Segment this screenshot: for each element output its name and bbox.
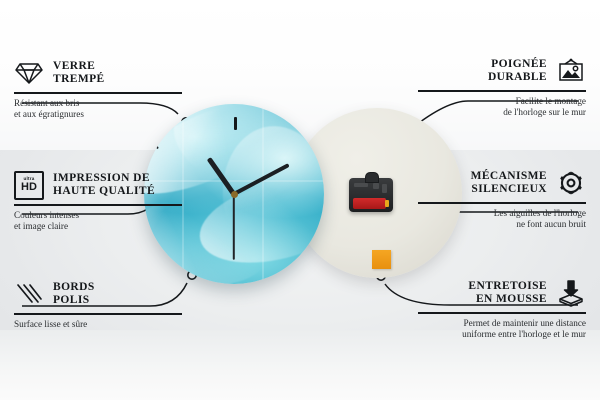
infographic-canvas: VERRE TREMPÉ Résistant aux bris et aux é… [0,0,600,400]
foam-spacer-icon [556,278,586,308]
gear-icon [556,168,586,198]
hour-tick [152,139,159,150]
feature-verre-trempe: VERRE TREMPÉ Résistant aux bris et aux é… [14,58,182,120]
foam-spacer [372,250,391,269]
divider [418,312,586,314]
feature-title: ENTRETOISE EN MOUSSE [468,280,547,307]
movement-detail [354,183,368,187]
feature-title: POIGNÉE DURABLE [488,58,547,85]
clock-center-pin [231,191,238,198]
second-hand [233,194,235,260]
picture-hanger-icon [556,56,586,86]
feature-title: BORDS POLIS [53,281,95,308]
feature-description: Les aiguilles de l'horloge ne font aucun… [418,208,586,231]
diamond-icon [14,58,44,88]
movement-detail [382,184,387,193]
feature-title: IMPRESSION DE HAUTE QUALITÉ [53,172,155,199]
divider [418,90,586,92]
quartz-movement [349,178,393,212]
feature-description: Permet de maintenir une distance uniform… [418,318,586,341]
hour-tick [311,139,318,150]
movement-shaft [365,172,379,183]
divider [14,313,182,315]
feature-title: MÉCANISME SILENCIEUX [471,170,547,197]
feature-description: Surface lisse et sûre [14,319,182,330]
movement-detail [373,183,379,189]
polished-edges-icon [14,279,44,309]
feature-entretoise-en-mousse: ENTRETOISE EN MOUSSE Permet de maintenir… [418,278,586,340]
divider [14,204,182,206]
feature-mecanisme-silencieux: MÉCANISME SILENCIEUX Les aiguilles de l'… [418,168,586,230]
feature-description: Résistant aux bris et aux égratignures [14,98,182,121]
hour-tick [234,117,237,130]
hd-label: HD [21,182,37,193]
divider [418,202,586,204]
feature-title: VERRE TREMPÉ [53,60,105,87]
feature-description: Couleurs intenses et image claire [14,210,182,233]
divider [14,92,182,94]
battery-terminal [385,200,389,207]
ultra-hd-icon: ultra HD [14,170,44,200]
feature-poignee-durable: POIGNÉE DURABLE Facilite le montage de l… [418,56,586,118]
battery [353,198,386,209]
feature-bords-polis: BORDS POLIS Surface lisse et sûre [14,279,182,330]
feature-description: Facilite le montage de l'horloge sur le … [418,96,586,119]
feature-impression-haute-qualite: ultra HD IMPRESSION DE HAUTE QUALITÉ Cou… [14,170,182,232]
